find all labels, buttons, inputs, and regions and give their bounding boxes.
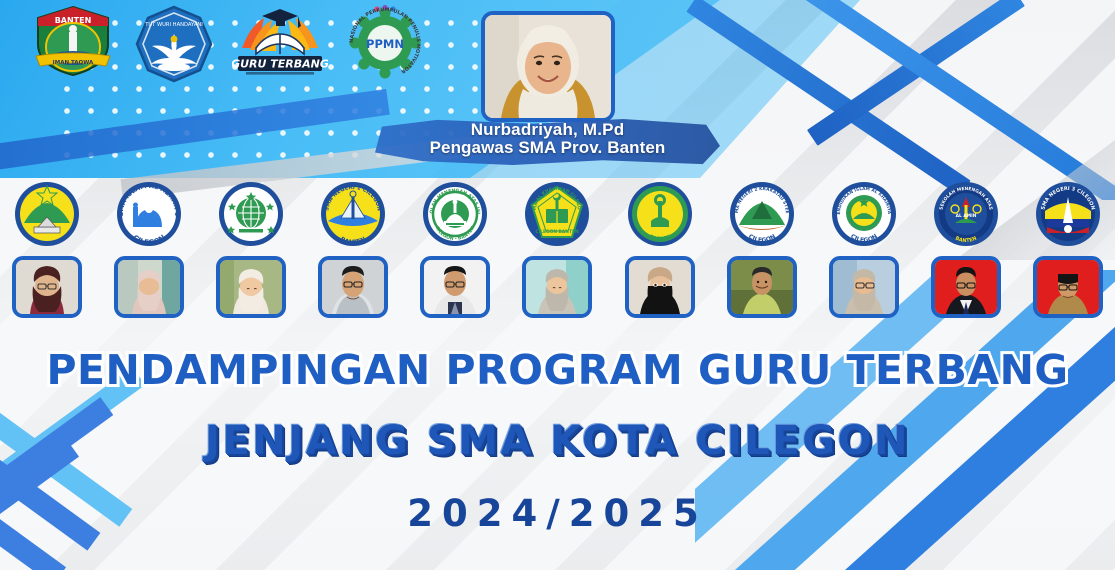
- svg-text:CILEGON BANTEN: CILEGON BANTEN: [536, 229, 580, 235]
- school-logo-1: [14, 181, 80, 247]
- school-logo-row: SMA ISLAM AL AZHAR 6CILEGON SMA NEGERI 1…: [8, 178, 1107, 250]
- school-logo-7: SMA PGRI PUTRA AL KHAIRIYAHCILEGON: [627, 181, 693, 247]
- school-logo-4: SMA NEGERI 1 CILEGONBANTEN: [320, 181, 386, 247]
- banten-province-logo-icon: BANTEN IMAN TAQWA: [30, 4, 116, 78]
- participant-photo-2: [114, 256, 184, 318]
- participant-photo-4: [318, 256, 388, 318]
- school-logo-3: [218, 181, 284, 247]
- svg-text:IMAN TAQWA: IMAN TAQWA: [53, 60, 94, 66]
- academic-year: 2024/2025: [0, 492, 1115, 535]
- guru-terbang-icon: GURU TERBANG: [232, 4, 328, 78]
- participant-photo-row: [8, 252, 1107, 322]
- speaker-name-banner: Nurbadriyah, M.Pd Pengawas SMA Prov. Ban…: [375, 118, 720, 166]
- svg-text:TUT WURI HANDAYANI: TUT WURI HANDAYANI: [144, 22, 203, 28]
- school-logo-2: SMA ISLAM AL AZHAR 6CILEGON: [116, 181, 182, 247]
- school-logo-5: SEKOLAH MENENGAH ATAS ISLAMCILEGON - BAN…: [422, 181, 488, 247]
- banner-text: Nurbadriyah, M.Pd Pengawas SMA Prov. Ban…: [375, 118, 720, 157]
- participant-photo-11: [1033, 256, 1103, 318]
- ppmn-icon: PPMN NASIONAL PERKUMPULAN PENULIS MOTIVA…: [346, 4, 424, 82]
- speaker-portrait-image: [485, 15, 611, 118]
- speaker-portrait: [481, 11, 615, 122]
- ppmn-logo: PPMN NASIONAL PERKUMPULAN PENULIS MOTIVA…: [346, 4, 424, 87]
- headline-line-1: PENDAMPINGAN PROGRAM GURU TERBANG: [0, 346, 1115, 394]
- participant-photo-1: [12, 256, 82, 318]
- poster-canvas: BANTEN IMAN TAQWA TUT WURI HANDAYANI: [0, 0, 1115, 570]
- kemdikbud-logo: TUT WURI HANDAYANI: [134, 4, 214, 89]
- participant-photo-5: [420, 256, 490, 318]
- school-logo-6: SMA AL KHAIRIYAH CILEGONCILEGON BANTEN: [524, 181, 590, 247]
- guru-terbang-logo: GURU TERBANG: [232, 4, 328, 83]
- svg-text:GURU TERBANG: GURU TERBANG: [232, 58, 328, 71]
- participant-photo-6: [522, 256, 592, 318]
- headline-line-1-text: PENDAMPINGAN PROGRAM GURU TERBANG: [46, 346, 1068, 394]
- top-logo-row: BANTEN IMAN TAQWA TUT WURI HANDAYANI: [30, 4, 424, 89]
- top-right-ribbon-group: [685, 0, 1115, 200]
- participant-photo-3: [216, 256, 286, 318]
- school-logo-10: SEKOLAH MENENGAH ATASBANTENAL AMIN: [933, 181, 999, 247]
- participant-photo-7: [625, 256, 695, 318]
- school-logo-11: SMA NEGERI 3 CILEGON: [1035, 181, 1101, 247]
- participant-photo-9: [829, 256, 899, 318]
- banten-province-logo: BANTEN IMAN TAQWA: [30, 4, 116, 83]
- tut-wuri-handayani-icon: TUT WURI HANDAYANI: [134, 4, 214, 84]
- participant-photo-10: [931, 256, 1001, 318]
- svg-text:AL AMIN: AL AMIN: [955, 213, 976, 219]
- ribbon-stripe-1: [686, 0, 970, 196]
- headline-line-2: JENJANG SMA KOTA CILEGON: [0, 418, 1115, 464]
- school-logo-9: PENDIDIKAN ISLAM AL KHAIRIYAHCILEGON: [831, 181, 897, 247]
- academic-year-text: 2024/2025: [407, 492, 707, 535]
- participant-photo-8: [727, 256, 797, 318]
- svg-text:PPMN: PPMN: [366, 37, 404, 51]
- school-logo-8: SMA NEGERI 2 KRAKATAU STEELCILEGON: [729, 181, 795, 247]
- headline-line-2-text: JENJANG SMA KOTA CILEGON: [205, 418, 910, 464]
- speaker-role: Pengawas SMA Prov. Banten: [375, 139, 720, 157]
- speaker-name: Nurbadriyah, M.Pd: [375, 121, 720, 139]
